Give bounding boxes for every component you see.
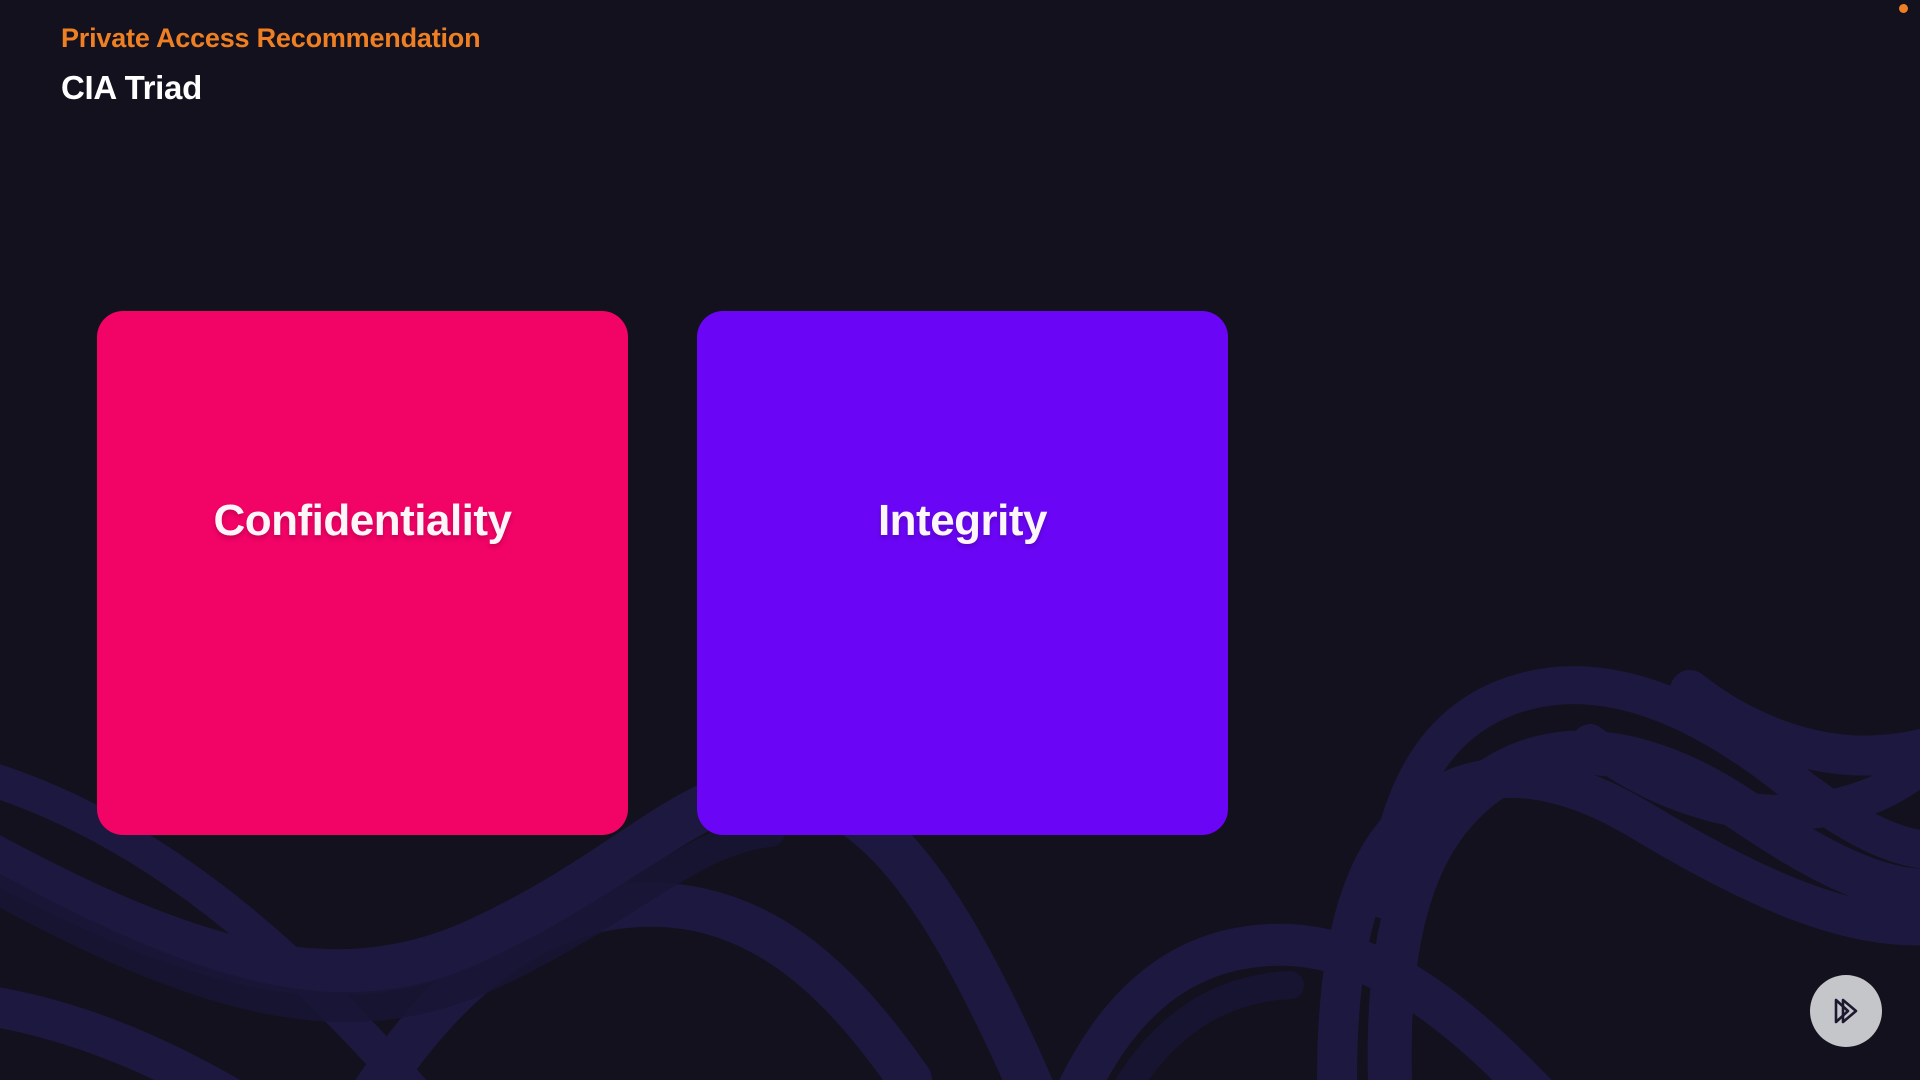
slide-eyebrow: Private Access Recommendation xyxy=(61,22,480,56)
wave-line-soft-2 xyxy=(1095,985,1290,1080)
wave-line-2 xyxy=(0,1000,300,1080)
wave-line-8 xyxy=(1385,685,1920,900)
slide-header: Private Access Recommendation CIA Triad xyxy=(61,22,480,110)
page-title: CIA Triad xyxy=(61,67,480,110)
wave-line-9 xyxy=(1690,690,1920,756)
wave-line-4 xyxy=(330,905,910,1080)
card-integrity[interactable]: Integrity xyxy=(697,311,1228,835)
play-button[interactable] xyxy=(1810,975,1882,1047)
card-label: Integrity xyxy=(878,496,1047,546)
wave-line-5 xyxy=(1060,945,1560,1080)
status-dot-icon xyxy=(1899,4,1908,13)
wave-line-10 xyxy=(1590,742,1920,813)
card-label: Confidentiality xyxy=(213,496,511,546)
card-confidentiality[interactable]: Confidentiality xyxy=(97,311,628,835)
concept-card-row: Confidentiality Integrity xyxy=(97,311,1228,835)
wave-line-soft-1 xyxy=(0,832,770,1007)
double-play-icon xyxy=(1828,993,1864,1029)
